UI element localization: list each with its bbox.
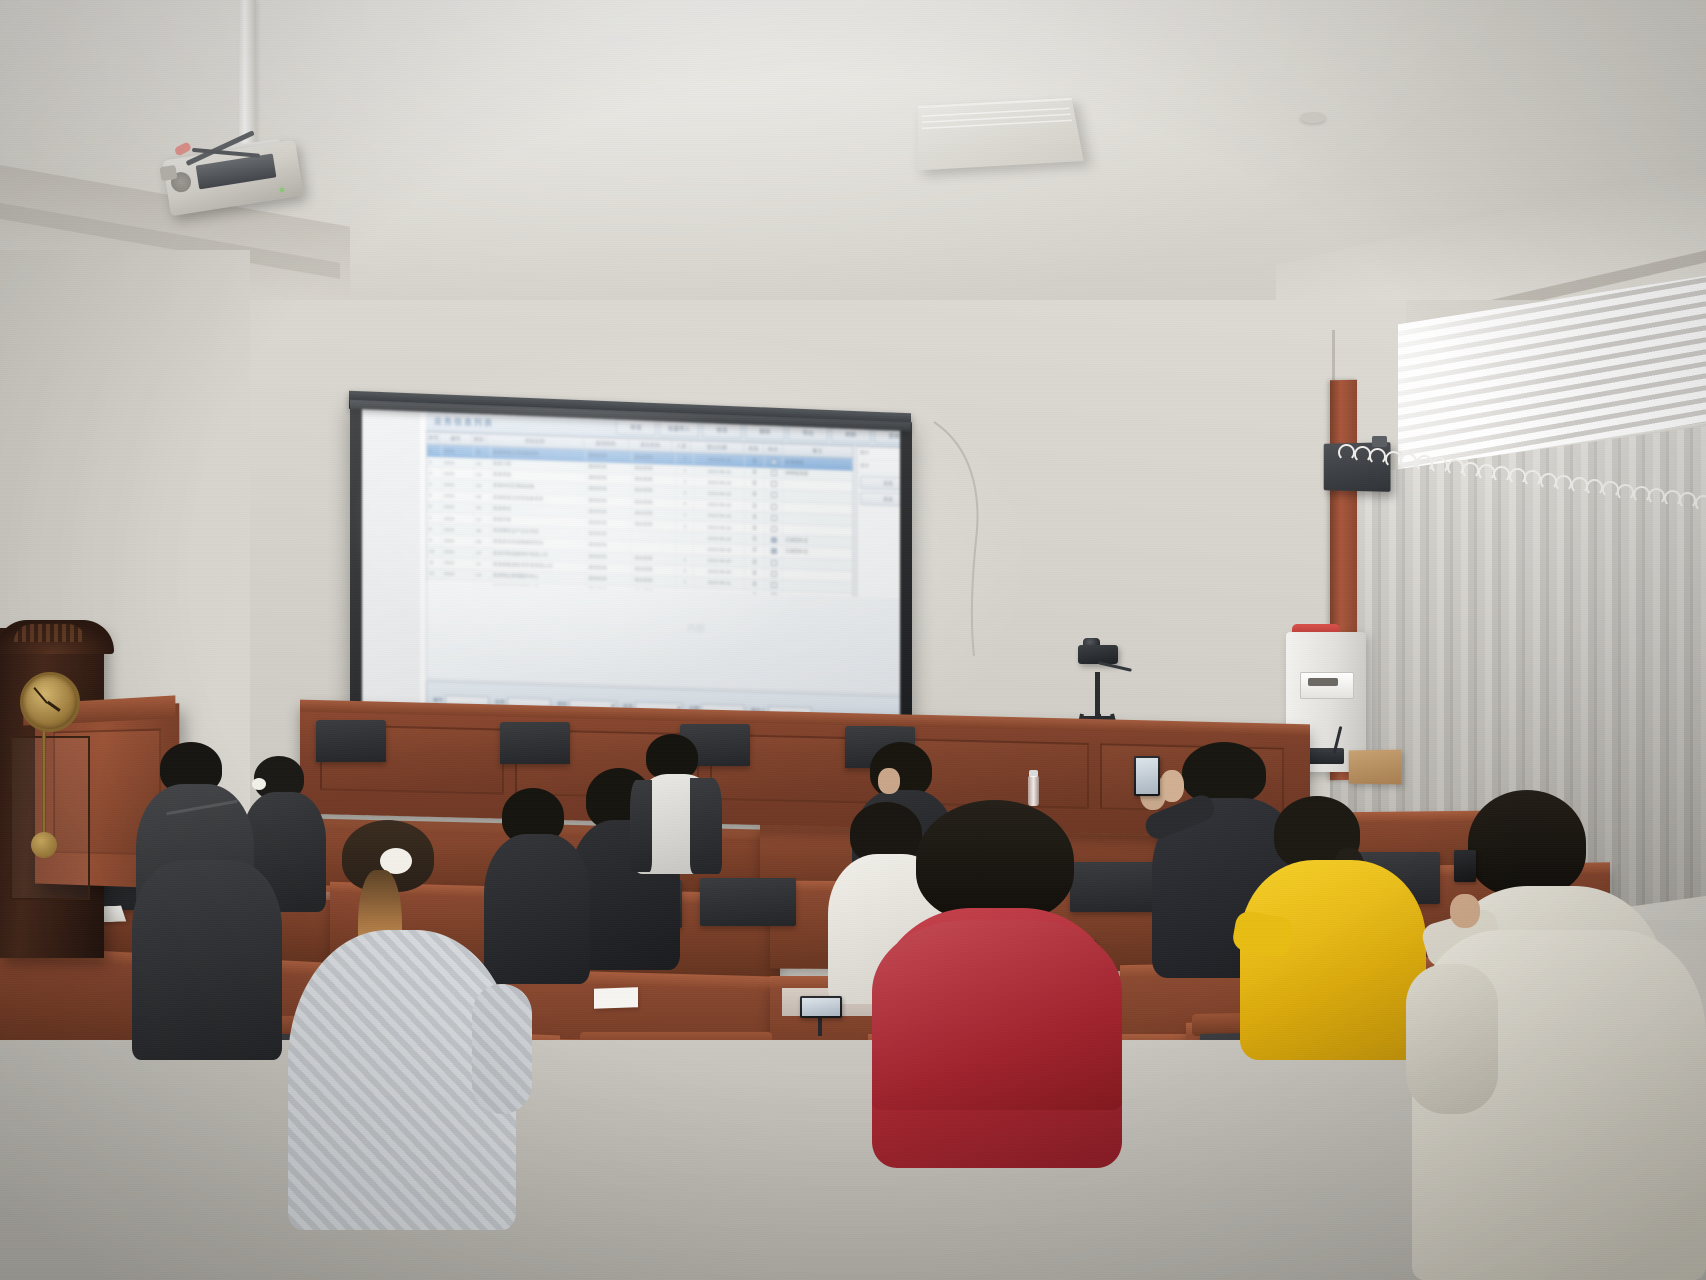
table-cell[interactable]: 5 (427, 490, 442, 501)
table-cell[interactable]: 承办机构 (632, 497, 676, 509)
table-cell[interactable]: 2023 (442, 468, 474, 479)
table-cell[interactable]: 7 (427, 512, 442, 523)
ac-diffuser-icon (917, 98, 1083, 171)
table-cell[interactable]: 2023-09-20 (694, 566, 745, 578)
row-flag-checkbox[interactable] (771, 481, 777, 487)
smartphone-far-right[interactable] (1454, 850, 1476, 882)
table-cell[interactable]: 承办机构 (632, 564, 676, 576)
torso (872, 920, 1122, 1110)
row-flag-checkbox[interactable] (771, 470, 777, 476)
table-cell[interactable] (765, 546, 783, 557)
table-cell[interactable]: 12 (474, 570, 491, 581)
column-header-5[interactable]: 承办机构 (629, 439, 673, 451)
app-blank-workspace: 内部 (426, 582, 900, 695)
table-cell[interactable]: 属地机构 (586, 562, 632, 574)
table-cell[interactable]: 承办机构 (632, 463, 676, 475)
table-cell[interactable]: 9 (427, 535, 442, 546)
table-cell[interactable]: 承办机构 (632, 474, 676, 486)
table-cell[interactable]: 04 (474, 480, 491, 491)
head-table-chair[interactable] (500, 722, 570, 764)
curtain-hook-icon (1695, 495, 1706, 512)
table-cell[interactable]: 属地机构 (586, 507, 632, 519)
table-cell[interactable]: 2023-09-15 (694, 488, 745, 500)
column-header-0[interactable]: 序号 (427, 433, 440, 444)
torso (132, 860, 282, 1060)
column-header-7[interactable]: 登记日期 (691, 441, 743, 454)
row-flag-checkbox[interactable] (771, 492, 777, 498)
curtain-hook-icon (1338, 444, 1355, 461)
table-cell[interactable]: 否 (745, 545, 765, 556)
curtain-hook-icon (1617, 484, 1634, 501)
curtain-hook-icon (1447, 459, 1464, 476)
curtain-hook-icon (1493, 466, 1510, 483)
curtain-hook-icon (1602, 481, 1619, 498)
table-cell[interactable]: 属地机构 (586, 473, 632, 485)
row-flag-checkbox[interactable] (771, 458, 777, 464)
table-cell[interactable]: 1 (676, 476, 694, 487)
dispenser-tap-icon[interactable] (1308, 678, 1338, 686)
app-watermark: 内部 (687, 621, 705, 635)
table-cell[interactable]: 2023 (442, 445, 474, 457)
hair (1182, 742, 1266, 804)
app-window-title: 业务信息列表 (426, 415, 494, 428)
table-cell[interactable]: 1 (676, 577, 694, 588)
table-cell[interactable]: 2023-09-18 (694, 533, 745, 545)
table-cell[interactable]: 2023 (442, 457, 474, 468)
table-cell[interactable]: 属地机构 (586, 462, 632, 474)
table-cell[interactable]: 是 (745, 501, 765, 512)
table-cell[interactable]: 11 (474, 559, 491, 570)
table-cell[interactable]: 是 (745, 557, 765, 568)
table-cell[interactable]: 2023-09-21 (694, 577, 745, 589)
table-cell[interactable]: 是 (745, 579, 765, 590)
app-side-panel[interactable]: 统计合计全选反选 (856, 446, 900, 600)
table-cell[interactable]: 2 (676, 565, 694, 576)
table-cell[interactable]: 是 (745, 512, 765, 523)
curtain-hook-icon (1664, 490, 1681, 507)
table-cell[interactable]: 2023 (442, 535, 474, 546)
row-flag-checkbox[interactable] (771, 548, 777, 554)
table-cell[interactable]: 2023 (442, 479, 474, 490)
column-header-9[interactable]: 标记 (764, 444, 783, 456)
column-header-4[interactable]: 属地机构 (584, 438, 629, 451)
table-cell[interactable] (765, 456, 783, 468)
water-bottle[interactable] (1028, 776, 1039, 806)
table-cell[interactable] (765, 501, 783, 512)
arm (1406, 964, 1498, 1114)
data-grid[interactable]: 序号编号类别项目名称属地机构承办机构人员登记日期状态标记备注 1202301某某… (426, 431, 854, 597)
table-cell[interactable]: 10 (474, 548, 491, 559)
table-cell[interactable] (765, 580, 783, 591)
column-header-10[interactable]: 备注 (783, 444, 853, 457)
table-cell[interactable]: 是 (745, 489, 765, 500)
table-cell[interactable]: 02 (474, 458, 491, 469)
row-flag-checkbox[interactable] (771, 526, 777, 532)
table-cell[interactable]: 2023-09-15 (694, 453, 745, 466)
toolbar-button-0[interactable]: 新增 (616, 419, 656, 436)
table-cell[interactable]: 属地机构 (586, 551, 632, 563)
table-cell[interactable]: 属地机构 (586, 574, 632, 586)
curtain-hook-icon (1478, 464, 1495, 481)
table-cell[interactable]: 1 (676, 510, 694, 521)
column-header-8[interactable]: 状态 (744, 443, 765, 455)
projector-body-panel (196, 153, 277, 189)
table-cell[interactable]: 2023-09-20 (694, 555, 745, 567)
curtain-hook-icon (1648, 488, 1665, 505)
column-header-2[interactable]: 类别 (472, 434, 487, 446)
table-cell[interactable]: 2 (676, 498, 694, 509)
projection-screen-surface: 文件编辑视图格式工具数据窗口帮助 业务信息列表 新增批量导入修改删除导出刷新查询… (362, 406, 900, 741)
hand (1160, 770, 1184, 802)
table-cell[interactable]: 2023-09-15 (694, 465, 745, 477)
table-cell[interactable]: 6 (427, 501, 442, 512)
table-cell[interactable] (632, 530, 676, 542)
tripod-center-column (1095, 672, 1100, 718)
table-cell[interactable]: 是 (745, 568, 765, 579)
table-cell[interactable] (676, 532, 694, 543)
curtain-hook-icon (1555, 475, 1572, 492)
curtain-hook-icon (1416, 455, 1433, 472)
table-cell[interactable] (765, 568, 783, 579)
table-cell[interactable]: 否 (745, 534, 765, 545)
table-cell[interactable]: 属地机构 (586, 540, 632, 552)
table-cell[interactable]: 8 (427, 524, 442, 535)
curtain-hook-icon (1633, 486, 1650, 503)
table-cell[interactable]: 3 (427, 468, 442, 479)
row-flag-checkbox[interactable] (771, 504, 777, 510)
table-cell[interactable]: 承办机构 (632, 519, 676, 531)
table-cell[interactable]: 2023 (442, 558, 474, 569)
curtain-hook-icon (1509, 468, 1526, 485)
hand (1450, 894, 1480, 928)
projected-application[interactable]: 文件编辑视图格式工具数据窗口帮助 业务信息列表 新增批量导入修改删除导出刷新查询… (420, 406, 900, 741)
table-cell[interactable]: 2023 (442, 547, 474, 558)
speaker-bracket (1372, 436, 1387, 447)
table-cell[interactable]: 承办机构 (632, 508, 676, 520)
table-cell[interactable]: 属地机构 (586, 529, 632, 541)
paper-sheet[interactable] (594, 987, 638, 1009)
torso (1240, 860, 1426, 1060)
table-cell[interactable]: 2 (427, 457, 442, 468)
hair (1468, 790, 1586, 896)
table-cell[interactable] (765, 524, 783, 535)
curtain-hook-icon (1354, 446, 1371, 463)
table-cell[interactable]: 补充完成 (783, 456, 853, 469)
torso (484, 834, 590, 984)
projector-lens-icon (159, 165, 177, 181)
table-cell[interactable]: 10 (427, 546, 442, 557)
table-cell[interactable]: 属地机构 (586, 484, 632, 496)
curtain-hook-icon (1400, 453, 1417, 470)
table-cell[interactable] (676, 543, 694, 554)
table-cell[interactable] (765, 557, 783, 568)
table-cell[interactable]: 3 (676, 487, 694, 498)
table-cell[interactable]: 09 (474, 536, 491, 547)
table-cell[interactable]: 2023-09-16 (694, 510, 745, 522)
table-cell[interactable]: 11 (427, 557, 442, 568)
table-cell[interactable]: 是 (745, 523, 765, 534)
curtain-hook-icon (1571, 477, 1588, 494)
table-cell[interactable]: 05 (474, 492, 491, 503)
smoke-detector-icon (1300, 112, 1326, 123)
column-header-6[interactable]: 人员 (672, 441, 691, 453)
table-cell[interactable]: 2023 (442, 491, 474, 502)
chair[interactable] (700, 878, 796, 926)
table-cell[interactable]: 是 (745, 478, 765, 489)
curtain-hook-icon (1540, 473, 1557, 490)
column-header-1[interactable]: 编号 (440, 433, 471, 445)
table-cell[interactable] (632, 542, 676, 554)
table-cell[interactable]: 2023-09-16 (694, 521, 745, 533)
table-cell[interactable]: 12 (427, 568, 442, 579)
table-cell[interactable]: 08 (474, 525, 491, 536)
table-cell[interactable]: 承办机构 (632, 451, 676, 463)
table-cell[interactable]: 2023-09-15 (694, 477, 745, 489)
table-cell[interactable]: 属地机构 (586, 495, 632, 507)
side-panel-button-0[interactable]: 全选 (860, 476, 900, 491)
table-cell[interactable]: 2023 (442, 513, 474, 524)
table-cell[interactable] (765, 468, 783, 479)
data-grid-body[interactable]: 1202301某某有限公司设备采购属地机构承办机构22023-09-15是补充完… (427, 445, 853, 598)
projected-image: 文件编辑视图格式工具数据窗口帮助 业务信息列表 新增批量导入修改删除导出刷新查询… (420, 406, 900, 741)
arm (472, 984, 532, 1114)
table-cell[interactable]: 属地机构 (586, 518, 632, 530)
side-panel-button-1[interactable]: 反选 (860, 492, 900, 507)
wall-cable (930, 420, 1070, 670)
table-cell[interactable]: 是 (745, 467, 765, 478)
row-flag-checkbox[interactable] (771, 515, 777, 521)
table-cell[interactable]: 是 (745, 455, 765, 467)
table-cell[interactable]: 承办机构 (632, 486, 676, 498)
table-cell[interactable]: 2023 (442, 524, 474, 535)
projector-mount-pole (239, 0, 256, 150)
table-cell[interactable]: 2 (676, 554, 694, 565)
table-cell[interactable]: 2023-09-15 (694, 499, 745, 511)
table-cell[interactable]: 01 (474, 446, 491, 458)
table-cell[interactable]: 2 (676, 521, 694, 532)
projector-power-led-icon (279, 187, 285, 193)
table-cell[interactable]: 承办机构 (632, 553, 676, 565)
table-cell[interactable]: 07 (474, 514, 491, 525)
table-cell[interactable] (765, 479, 783, 490)
hair (916, 800, 1074, 922)
table-cell[interactable]: 4 (427, 479, 442, 490)
table-cell[interactable]: 2023 (442, 502, 474, 513)
row-flag-checkbox[interactable] (771, 571, 777, 577)
row-flag-checkbox[interactable] (771, 537, 777, 543)
smartphone-held[interactable] (1134, 756, 1160, 796)
head-table-chair[interactable] (316, 720, 386, 762)
table-cell[interactable]: 1 (427, 445, 442, 456)
table-cell[interactable]: 2023 (442, 569, 474, 580)
table-cell[interactable]: 承办机构 (632, 575, 676, 587)
cardboard-box (1349, 750, 1402, 785)
conference-room-photo: 文件编辑视图格式工具数据窗口帮助 业务信息列表 新增批量导入修改删除导出刷新查询… (0, 0, 1706, 1280)
table-cell[interactable]: 2023-09-18 (694, 544, 745, 556)
table-cell[interactable]: 03 (474, 469, 491, 480)
table-cell[interactable]: 2 (676, 453, 694, 465)
toolbar-button-1[interactable]: 批量导入 (659, 420, 699, 437)
table-cell[interactable]: 1 (676, 465, 694, 476)
hand (878, 768, 900, 794)
clock-glass-door[interactable] (10, 736, 90, 900)
clock-pendulum-rod (42, 730, 46, 838)
table-cell[interactable] (765, 512, 783, 523)
clock-crown-carving (14, 624, 86, 642)
row-flag-checkbox[interactable] (771, 582, 777, 588)
table-cell[interactable] (765, 535, 783, 546)
table-cell[interactable]: 06 (474, 503, 491, 514)
curtain-hook-icon (1462, 462, 1479, 479)
curtain-hook-icon (1385, 451, 1402, 468)
side-panel-row-1: 合计 (857, 460, 900, 475)
smartphone-on-desk[interactable] (800, 996, 842, 1018)
row-flag-checkbox[interactable] (771, 559, 777, 565)
table-cell[interactable] (765, 490, 783, 501)
table-cell[interactable]: 属地机构 (586, 450, 632, 463)
clock-pendulum-bob (31, 832, 57, 858)
